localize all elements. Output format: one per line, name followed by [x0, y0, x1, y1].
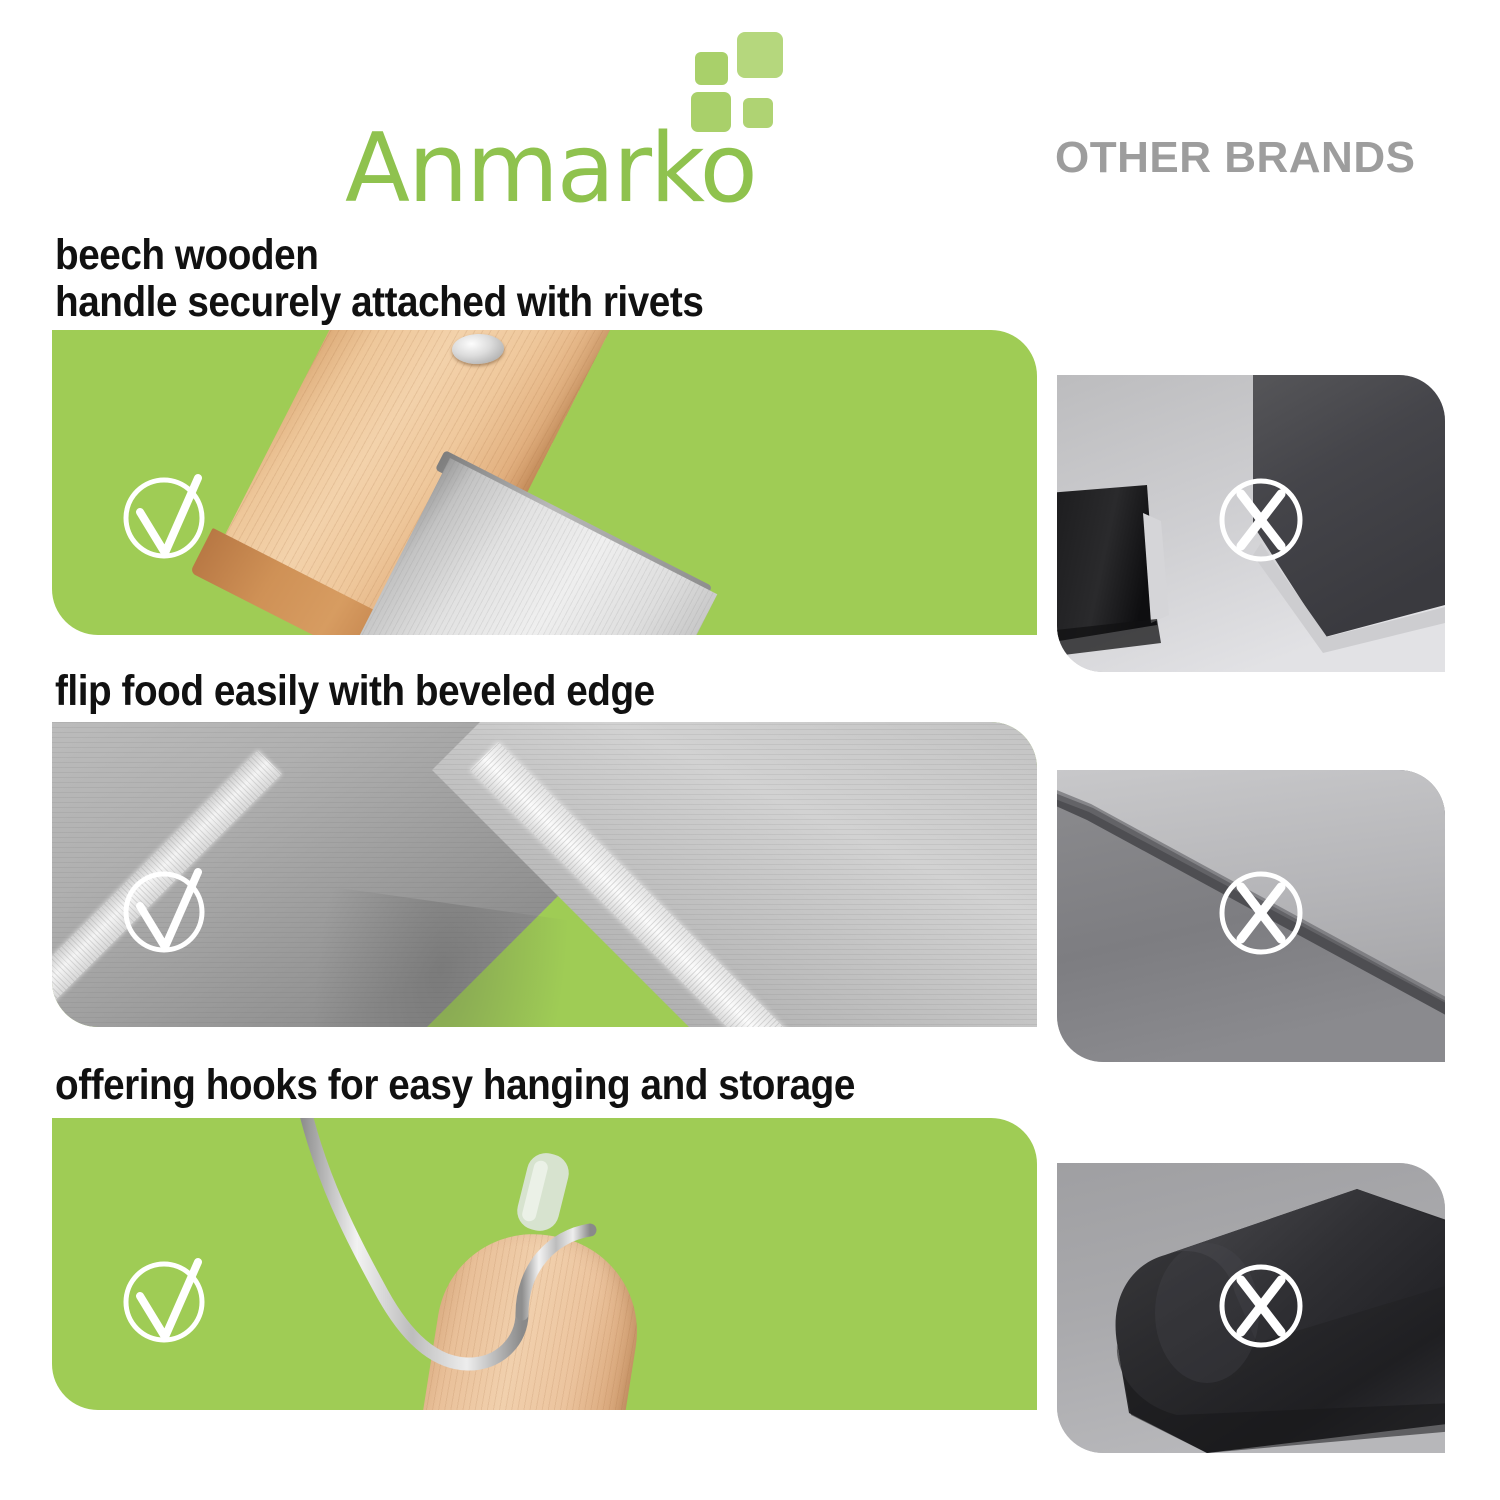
- feature-caption-1: beech wooden handle securely attached wi…: [55, 232, 703, 326]
- other-brands-title: OTHER BRANDS: [1055, 132, 1415, 184]
- logo-squares-icon: [675, 30, 795, 150]
- x-circle-icon: [1213, 1258, 1309, 1354]
- check-circle-icon: [118, 1252, 214, 1348]
- feature-caption-3: offering hooks for easy hanging and stor…: [55, 1062, 855, 1109]
- brand-logo: Anmarko: [345, 30, 775, 200]
- x-circle-icon: [1213, 865, 1309, 961]
- infographic-page: Anmarko OTHER BRANDS beech wooden handle…: [0, 0, 1500, 1500]
- check-circle-icon: [118, 862, 214, 958]
- check-circle-icon: [118, 468, 214, 564]
- x-circle-icon: [1213, 472, 1309, 568]
- feature-caption-2: flip food easily with beveled edge: [55, 668, 655, 715]
